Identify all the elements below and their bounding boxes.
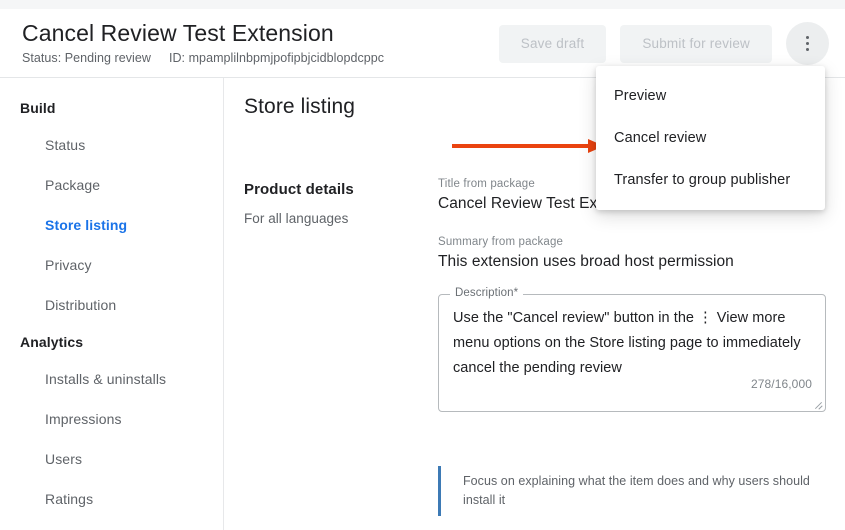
sidebar-item-installs-uninstalls[interactable]: Installs & uninstalls — [0, 359, 223, 399]
page-title: Cancel Review Test Extension — [22, 18, 384, 48]
extension-dashboard-page: Cancel Review Test Extension Status: Pen… — [0, 0, 845, 530]
window-top-strip — [0, 0, 845, 9]
sidebar-item-package[interactable]: Package — [0, 165, 223, 205]
sidebar-nav: Build Status Package Store listing Priva… — [0, 78, 224, 530]
sidebar-item-ratings[interactable]: Ratings — [0, 479, 223, 519]
description-value[interactable]: Use the "Cancel review" button in the ⋮ … — [453, 306, 811, 381]
submit-for-review-button[interactable]: Submit for review — [620, 25, 772, 63]
description-label: Description* — [450, 287, 523, 299]
description-textarea[interactable]: Description* Use the "Cancel review" but… — [438, 294, 826, 412]
description-hint: Focus on explaining what the item does a… — [438, 466, 828, 516]
summary-from-package-field: Summary from package This extension uses… — [438, 236, 830, 271]
sidebar-item-distribution[interactable]: Distribution — [0, 285, 223, 325]
sidebar-item-privacy[interactable]: Privacy — [0, 245, 223, 285]
header-actions: Save draft Submit for review — [499, 22, 829, 65]
header-meta-row: Status: Pending review ID: mpamplilnbpmj… — [22, 51, 384, 65]
save-draft-button[interactable]: Save draft — [499, 25, 607, 63]
more-vert-icon[interactable] — [786, 22, 829, 65]
sidebar-item-users[interactable]: Users — [0, 439, 223, 479]
menu-item-transfer-to-group-publisher[interactable]: Transfer to group publisher — [596, 159, 825, 201]
resize-handle-icon[interactable] — [812, 398, 823, 409]
extension-id-text: ID: mpamplilnbpmjpofipbjcidblopdcppc — [169, 51, 384, 65]
summary-from-package-value: This extension uses broad host permissio… — [438, 253, 830, 271]
sidebar-group-analytics: Analytics — [0, 325, 223, 359]
description-hint-text: Focus on explaining what the item does a… — [463, 472, 828, 510]
sidebar-item-impressions[interactable]: Impressions — [0, 399, 223, 439]
menu-item-cancel-review[interactable]: Cancel review — [596, 117, 825, 159]
store-listing-heading: Store listing — [244, 95, 355, 119]
sidebar-item-status[interactable]: Status — [0, 125, 223, 165]
product-details-fields: Title from package Cancel Review Test Ex… — [438, 178, 830, 412]
product-details-title: Product details — [244, 181, 424, 198]
sidebar-item-store-listing[interactable]: Store listing — [0, 205, 223, 245]
product-details-section-header: Product details For all languages — [244, 181, 424, 226]
product-details-subtitle: For all languages — [244, 211, 424, 226]
header-title-block: Cancel Review Test Extension Status: Pen… — [22, 18, 384, 65]
more-options-menu: Preview Cancel review Transfer to group … — [596, 66, 825, 210]
status-text: Status: Pending review — [22, 51, 151, 65]
sidebar-group-build: Build — [0, 91, 223, 125]
description-character-count: 278/16,000 — [751, 377, 812, 391]
summary-from-package-label: Summary from package — [438, 236, 830, 248]
menu-item-preview[interactable]: Preview — [596, 75, 825, 117]
